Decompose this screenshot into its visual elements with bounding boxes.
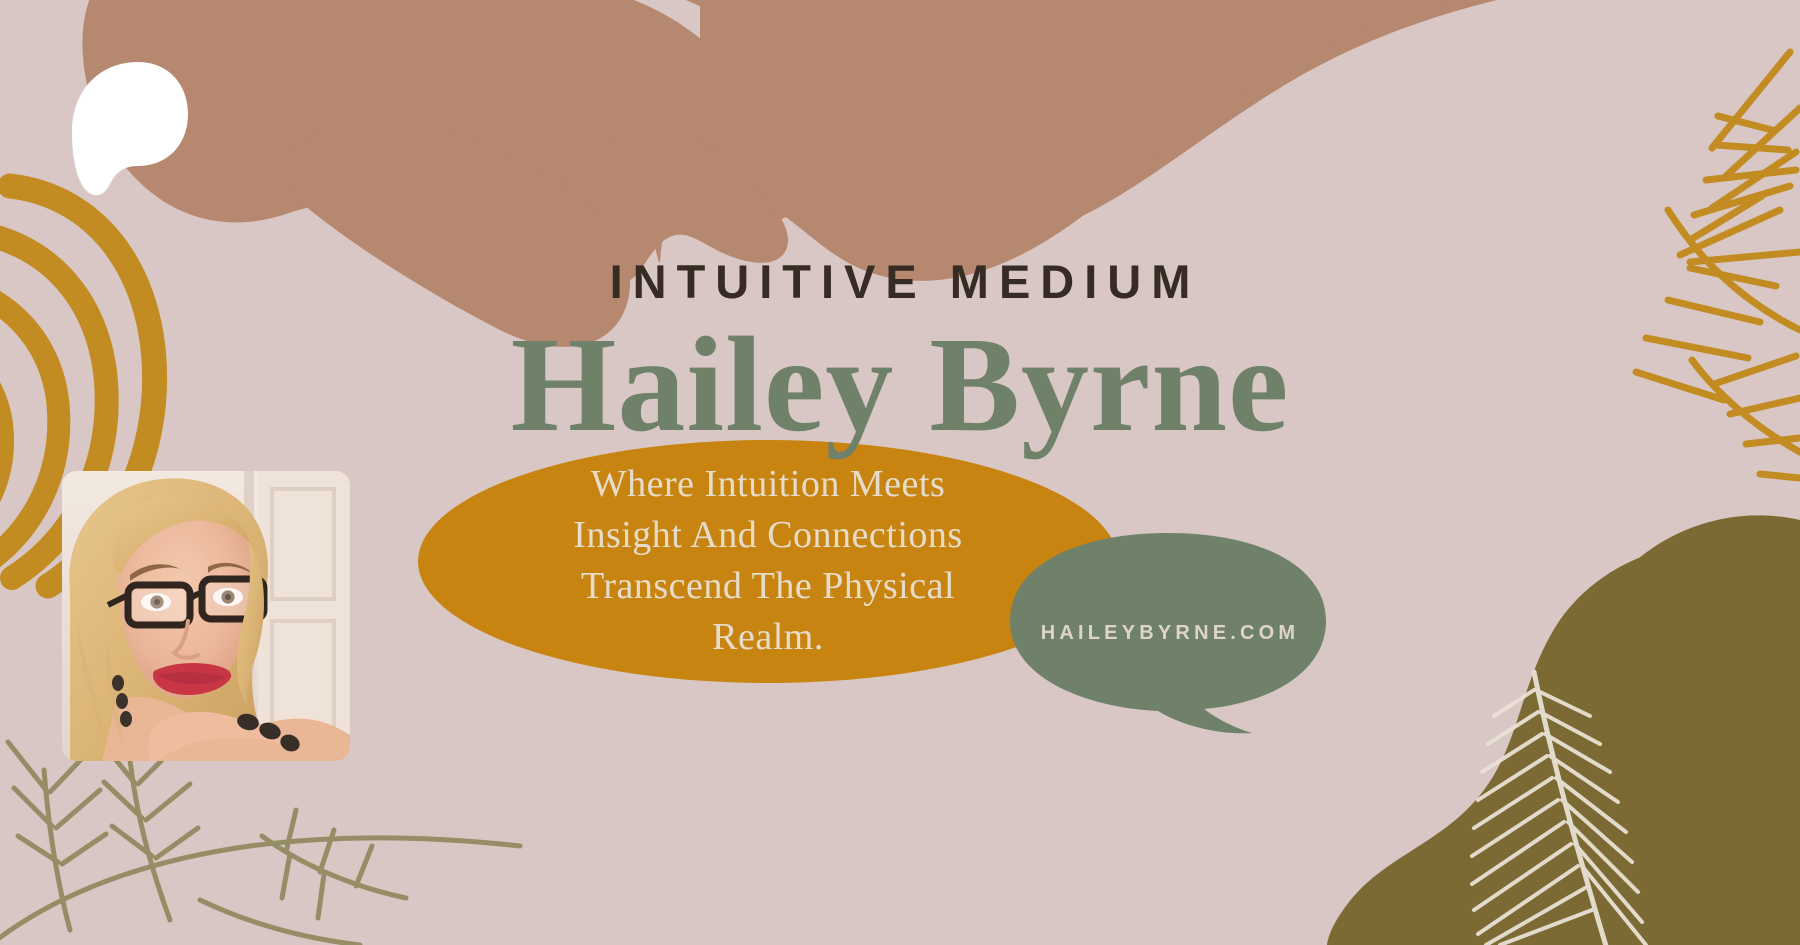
tagline-line-2: Insight And Connections (430, 510, 1106, 561)
patreon-logo-icon (70, 58, 190, 198)
portrait-photo (62, 471, 350, 761)
tagline-line-1: Where Intuition Meets (430, 459, 1106, 510)
page-title: Hailey Byrne (0, 314, 1800, 457)
tagline-line-4: Realm. (430, 612, 1106, 663)
tagline: Where Intuition Meets Insight And Connec… (430, 459, 1106, 663)
patreon-logo[interactable] (70, 58, 190, 198)
patreon-banner: INTUITIVE MEDIUM Hailey Byrne Where Intu… (0, 0, 1800, 945)
tagline-line-3: Transcend The Physical (430, 561, 1106, 612)
avatar[interactable] (62, 471, 350, 761)
page-eyebrow: INTUITIVE MEDIUM (0, 258, 1800, 305)
website-label: HAILEYBYRNE.COM (1008, 622, 1328, 645)
